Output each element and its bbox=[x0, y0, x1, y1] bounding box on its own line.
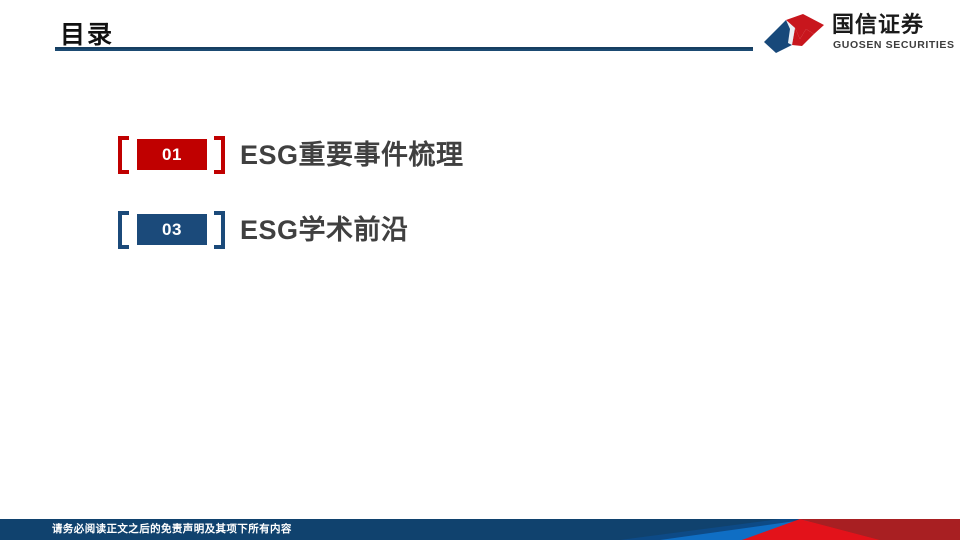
bracket-left-icon bbox=[118, 211, 122, 249]
toc-entry-label: ESG重要事件梳理 bbox=[240, 135, 464, 175]
toc-number-badge: 03 bbox=[137, 214, 207, 245]
toc-number-badge: 01 bbox=[137, 139, 207, 170]
footer-disclaimer: 请务必阅读正文之后的免责声明及其项下所有内容 bbox=[52, 519, 292, 540]
logo-name-en: GUOSEN SECURITIES bbox=[833, 39, 955, 51]
bracket-right-icon bbox=[221, 211, 225, 249]
title-underline-highlight bbox=[55, 47, 753, 49]
logo-name-cn: 国信证券 bbox=[832, 12, 924, 38]
slide-root: 目录 国信证券 GUOSEN SECURITIES 01 ESG重要事件梳理 0… bbox=[0, 0, 960, 540]
bracket-left-icon bbox=[118, 136, 122, 174]
company-logo: 国信证券 GUOSEN SECURITIES bbox=[762, 10, 922, 56]
page-title: 目录 bbox=[60, 20, 114, 50]
toc-entry-label: ESG学术前沿 bbox=[240, 210, 409, 250]
bracket-right-icon bbox=[221, 136, 225, 174]
guosen-logo-mark-icon bbox=[762, 12, 828, 54]
